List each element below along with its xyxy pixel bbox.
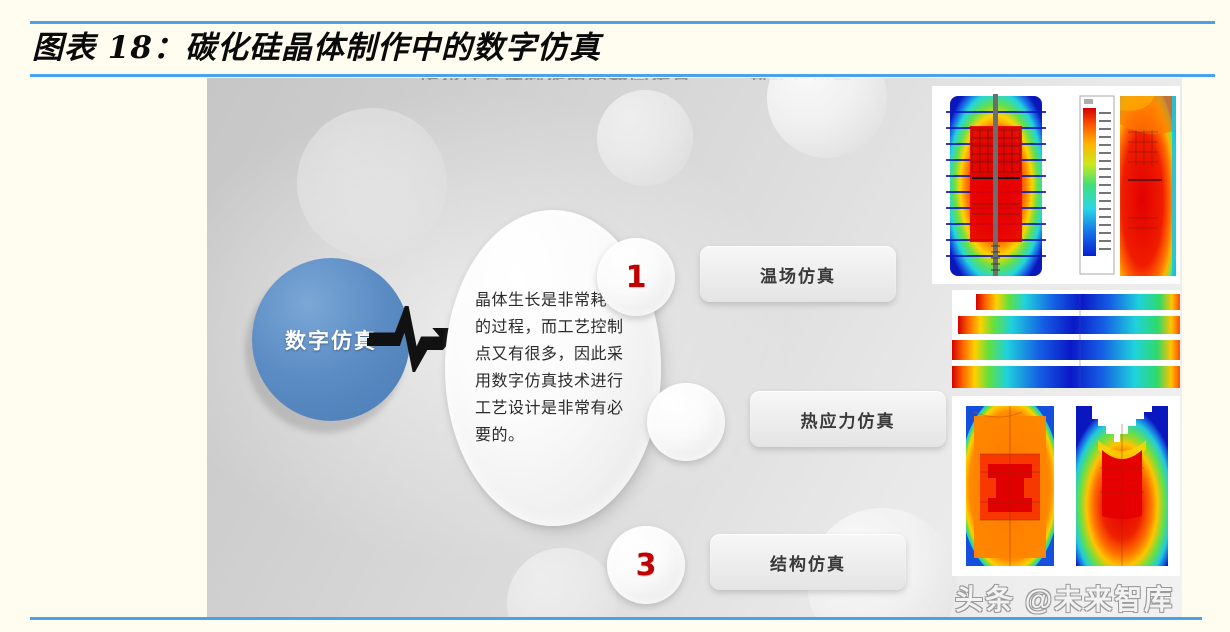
thermal-stress-simulation-image (952, 290, 1180, 388)
header-rule-bottom (30, 74, 1215, 77)
step-number-1: 1 (626, 260, 647, 295)
structural-simulation-image (952, 396, 1180, 576)
decorative-blob (297, 108, 447, 258)
header-rule-top (30, 21, 1215, 24)
decorative-blob (507, 548, 617, 617)
step-label-3: 结构仿真 (770, 550, 846, 575)
footer-rule (30, 617, 1202, 620)
slide-image: 碳化硅晶体制作中的数字仿真 —— 热场与应力 数字仿真 晶体生长是非常耗时的过程… (207, 78, 1182, 617)
step-label-pill-3: 结构仿真 (710, 534, 906, 590)
oval-description-text: 晶体生长是非常耗时的过程，而工艺控制点又有很多，因此采用数字仿真技术进行工艺设计… (475, 287, 631, 449)
step-number-circle-2 (647, 383, 725, 461)
watermark: 头条 @未来智库 (955, 578, 1174, 618)
step-number-3: 3 (636, 548, 657, 583)
decorative-blob (767, 78, 887, 158)
thermal-field-simulation-image (932, 86, 1180, 284)
step-label-pill-1: 温场仿真 (700, 246, 896, 302)
step-label-2: 热应力仿真 (801, 407, 896, 432)
hub-label: 数字仿真 (285, 325, 377, 355)
step-label-pill-2: 热应力仿真 (750, 391, 946, 447)
page-title: 图表 18：碳化硅晶体制作中的数字仿真 (32, 26, 601, 70)
step-number-circle-3: 3 (607, 526, 685, 604)
step-number-circle-1: 1 (597, 238, 675, 316)
step-label-1: 温场仿真 (760, 262, 836, 287)
decorative-blob (597, 90, 693, 186)
